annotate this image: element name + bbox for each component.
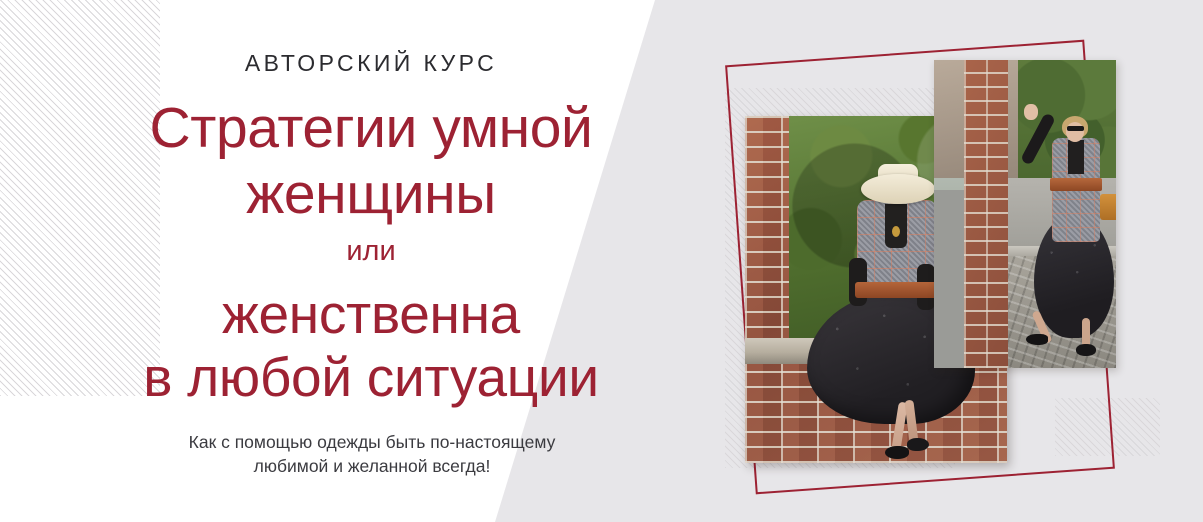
tagline-line-1: Как с помощью одежды быть по-настоящему [152,430,592,454]
sunglasses-icon [1067,126,1084,131]
street-figure-leather-belt [1050,178,1102,191]
tagline-line-2: любимой и желанной всегда! [152,454,592,478]
photo-woman-on-street [934,60,1116,368]
headline-line-3: женственна [118,283,624,346]
text-column: АВТОРСКИЙ КУРС Стратегии умной женщины и… [118,0,624,522]
street-brick-pier [964,60,1008,368]
figure-leather-belt [855,282,939,298]
street-figure-hand [1024,104,1038,120]
figure-shoe-left [885,446,909,459]
headline-line-2: женщины [118,161,624,227]
street-figure-shoe-right [1076,344,1096,356]
page-title: Стратегии умной женщины [118,95,624,227]
street-figure-inner-top [1068,140,1084,174]
tagline: Как с помощью одежды быть по-настоящему … [152,430,592,478]
photo-composition [700,0,1203,522]
street-figure-bucket-bag [1100,194,1116,220]
street-figure-face [1066,122,1084,142]
connector-label: или [118,237,624,266]
figure-straw-hat [861,174,935,204]
page-subtitle-heading: женственна в любой ситуации [118,283,624,409]
eyebrow-label: АВТОРСКИЙ КУРС [118,52,624,75]
headline-line-4: в любой ситуации [118,346,624,409]
street-figure-shoe-left [1026,334,1048,345]
headline-line-1: Стратегии умной [118,95,624,161]
promo-banner: АВТОРСКИЙ КУРС Стратегии умной женщины и… [0,0,1203,522]
figure-shoe-right [907,438,929,451]
figure-pendant [892,226,900,237]
